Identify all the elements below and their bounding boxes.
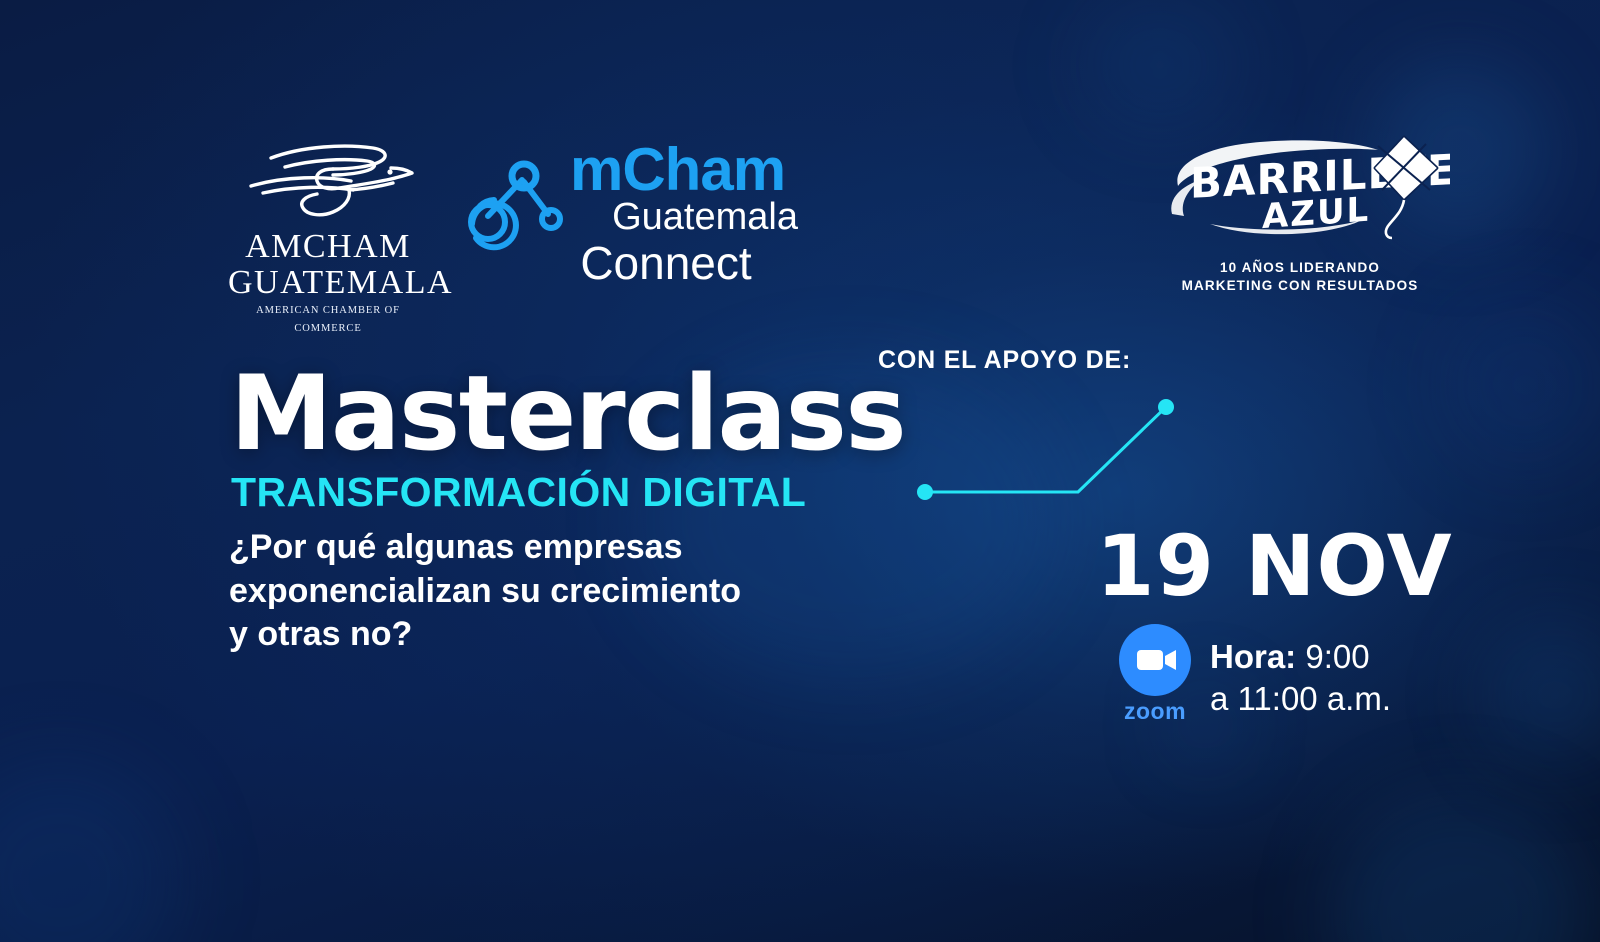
barrilete-tagline-line2: MARKETING CON RESULTADOS: [1150, 278, 1450, 293]
barrilete-tagline-line1: 10 AÑOS LIDERANDO: [1150, 260, 1450, 275]
event-date: 19 NOV: [1096, 524, 1453, 608]
mcham-country: Guatemala: [574, 198, 798, 236]
kite-icon: BARRILETE AZUL: [1150, 128, 1450, 258]
support-label: CON EL APOYO DE:: [878, 346, 1131, 375]
event-promo-poster: AMCHAM GUATEMALA AMERICAN CHAMBER OF COM…: [0, 0, 1600, 942]
subtitle: TRANSFORMACIÓN DIGITAL: [231, 472, 806, 513]
amcham-tagline: AMERICAN CHAMBER OF COMMERCE: [256, 305, 400, 334]
quetzal-bird-icon: [241, 136, 415, 222]
mcham-connect-logo: mCham Guatemala Connect: [458, 140, 798, 300]
question-line-1: ¿Por qué algunas empresas: [229, 526, 989, 570]
bokeh-blob: [1085, 0, 1235, 130]
question-line-2: exponencializan su crecimiento: [229, 570, 989, 614]
question-text: ¿Por qué algunas empresas exponencializa…: [229, 526, 989, 657]
event-time-label: Hora:: [1210, 638, 1296, 675]
zoom-wordmark: zoom: [1112, 698, 1198, 725]
event-time-line2: a 11:00 a.m.: [1210, 678, 1391, 720]
svg-text:AZUL: AZUL: [1262, 190, 1370, 238]
zoom-logo: zoom: [1112, 624, 1198, 725]
bokeh-blob: [1330, 790, 1590, 942]
amcham-name-line1: AMCHAM: [245, 228, 411, 265]
sponsor-logo-row: AMCHAM GUATEMALA AMERICAN CHAMBER OF COM…: [0, 128, 1600, 328]
mcham-connect-word: Connect: [534, 240, 798, 286]
bokeh-blob: [0, 760, 180, 942]
zoom-time-block: zoom Hora: 9:00 a 11:00 a.m.: [1112, 624, 1472, 734]
event-time-start: 9:00: [1296, 638, 1369, 675]
question-line-3: y otras no?: [229, 613, 989, 657]
event-time-line1: Hora: 9:00: [1210, 636, 1391, 678]
bokeh-blob: [1480, 620, 1600, 770]
mcham-wordmark: mCham: [570, 140, 785, 200]
event-time: Hora: 9:00 a 11:00 a.m.: [1210, 636, 1391, 720]
decorative-connector-line: [900, 385, 1200, 525]
page-title: Masterclass: [230, 363, 905, 466]
video-camera-icon: [1119, 624, 1191, 696]
amcham-logo: AMCHAM GUATEMALA AMERICAN CHAMBER OF COM…: [228, 136, 428, 336]
amcham-name-line2: GUATEMALA: [228, 264, 453, 301]
barrilete-azul-logo: BARRILETE AZUL 10 AÑOS LIDERANDO MARKETI…: [1150, 128, 1450, 308]
